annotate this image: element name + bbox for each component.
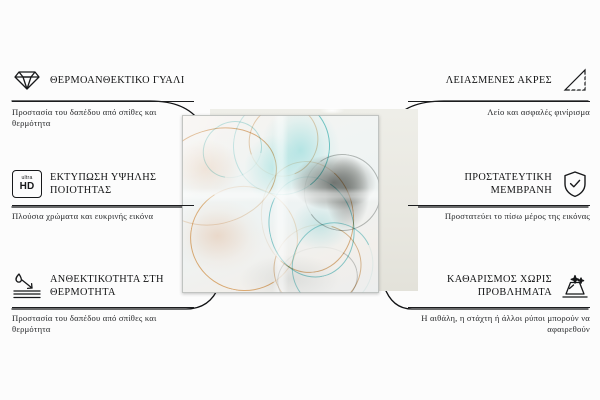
feature-right-2-title: ΠΡΟΣΤΑΤΕΥΤΙΚΗ ΜΕΜΒΡΑΝΗ xyxy=(408,171,552,197)
feature-left-2-description: Πλούσια χρώματα και ευκρινής εικόνα xyxy=(12,211,194,222)
feature-right-1-description: Λείο και ασφαλές φινίρισμα xyxy=(408,107,590,118)
feature-left-1-title: ΘΕΡΜΟΑΝΘΕΚΤΙΚΟ ΓΥΑΛΙ xyxy=(50,74,185,87)
feature-right-3-description: Η αιθάλη, η στάχτη ή άλλοι ρύποι μπορούν… xyxy=(408,313,590,336)
feature-right-3: ΚΑΘΑΡΙΣΜΟΣ ΧΩΡΙΣ ΠΡΟΒΛΗΜΑΤΑ Η αιθάλη, η … xyxy=(408,270,590,336)
ultra-hd-icon-hd-label: HD xyxy=(20,182,35,192)
feature-left-2-title: ΕΚΤΥΠΩΣΗ ΥΨΗΛΗΣ ΠΟΙΟΤΗΤΑΣ xyxy=(50,171,194,197)
feature-right-2: ΠΡΟΣΤΑΤΕΥΤΙΚΗ ΜΕΜΒΡΑΝΗ Προστατεύει το πί… xyxy=(408,168,590,222)
feature-right-2-rule xyxy=(408,205,590,206)
feature-right-3-title: ΚΑΘΑΡΙΣΜΟΣ ΧΩΡΙΣ ΠΡΟΒΛΗΜΑΤΑ xyxy=(408,273,552,299)
feature-left-1: ΘΕΡΜΟΑΝΘΕΚΤΙΚΟ ΓΥΑΛΙ Προστασία του δαπέδ… xyxy=(12,64,194,130)
feature-right-1: ΛΕΙΑΣΜΕΝΕΣ ΑΚΡΕΣ Λείο και ασφαλές φινίρι… xyxy=(408,64,590,118)
infographic-stage: ΘΕΡΜΟΑΝΘΕΚΤΙΚΟ ΓΥΑΛΙ Προστασία του δαπέδ… xyxy=(0,0,600,400)
feature-right-3-rule xyxy=(408,307,590,308)
product-image xyxy=(182,110,418,293)
feature-right-1-head: ΛΕΙΑΣΜΕΝΕΣ ΑΚΡΕΣ xyxy=(408,64,590,96)
feature-right-2-description: Προστατεύει το πίσω μέρος της εικόνας xyxy=(408,211,590,222)
feature-right-1-title: ΛΕΙΑΣΜΕΝΕΣ ΑΚΡΕΣ xyxy=(446,74,552,87)
feature-left-1-head: ΘΕΡΜΟΑΝΘΕΚΤΙΚΟ ΓΥΑΛΙ xyxy=(12,64,194,96)
sparkle-clean-icon xyxy=(560,271,590,301)
feature-left-2: ultra HD ΕΚΤΥΠΩΣΗ ΥΨΗΛΗΣ ΠΟΙΟΤΗΤΑΣ Πλούσ… xyxy=(12,168,194,222)
feature-left-3-rule xyxy=(12,307,194,308)
polished-edges-icon xyxy=(560,65,590,95)
feature-left-2-rule xyxy=(12,205,194,206)
feature-right-3-head: ΚΑΘΑΡΙΣΜΟΣ ΧΩΡΙΣ ΠΡΟΒΛΗΜΑΤΑ xyxy=(408,270,590,302)
ultra-hd-icon: ultra HD xyxy=(12,169,42,199)
feature-left-3-title: ΑΝΘΕΚΤΙΚΟΤΗΤΑ ΣΤΗ ΘΕΡΜΟΤΗΤΑ xyxy=(50,273,194,299)
feature-right-1-rule xyxy=(408,101,590,102)
feature-left-3-head: ΑΝΘΕΚΤΙΚΟΤΗΤΑ ΣΤΗ ΘΕΡΜΟΤΗΤΑ xyxy=(12,270,194,302)
feature-left-1-rule xyxy=(12,101,194,102)
feature-right-2-head: ΠΡΟΣΤΑΤΕΥΤΙΚΗ ΜΕΜΒΡΑΝΗ xyxy=(408,168,590,200)
feature-left-2-head: ultra HD ΕΚΤΥΠΩΣΗ ΥΨΗΛΗΣ ΠΟΙΟΤΗΤΑΣ xyxy=(12,168,194,200)
diamond-icon xyxy=(12,65,42,95)
glass-panel xyxy=(182,115,379,293)
feature-left-1-description: Προστασία του δαπέδου από σπίθες και θερ… xyxy=(12,107,194,130)
marble-artwork xyxy=(182,115,379,293)
shield-check-icon xyxy=(560,169,590,199)
heat-resistance-icon xyxy=(12,271,42,301)
feature-left-3-description: Προστασία του δαπέδου από σπίθες και θερ… xyxy=(12,313,194,336)
feature-left-3: ΑΝΘΕΚΤΙΚΟΤΗΤΑ ΣΤΗ ΘΕΡΜΟΤΗΤΑ Προστασία το… xyxy=(12,270,194,336)
